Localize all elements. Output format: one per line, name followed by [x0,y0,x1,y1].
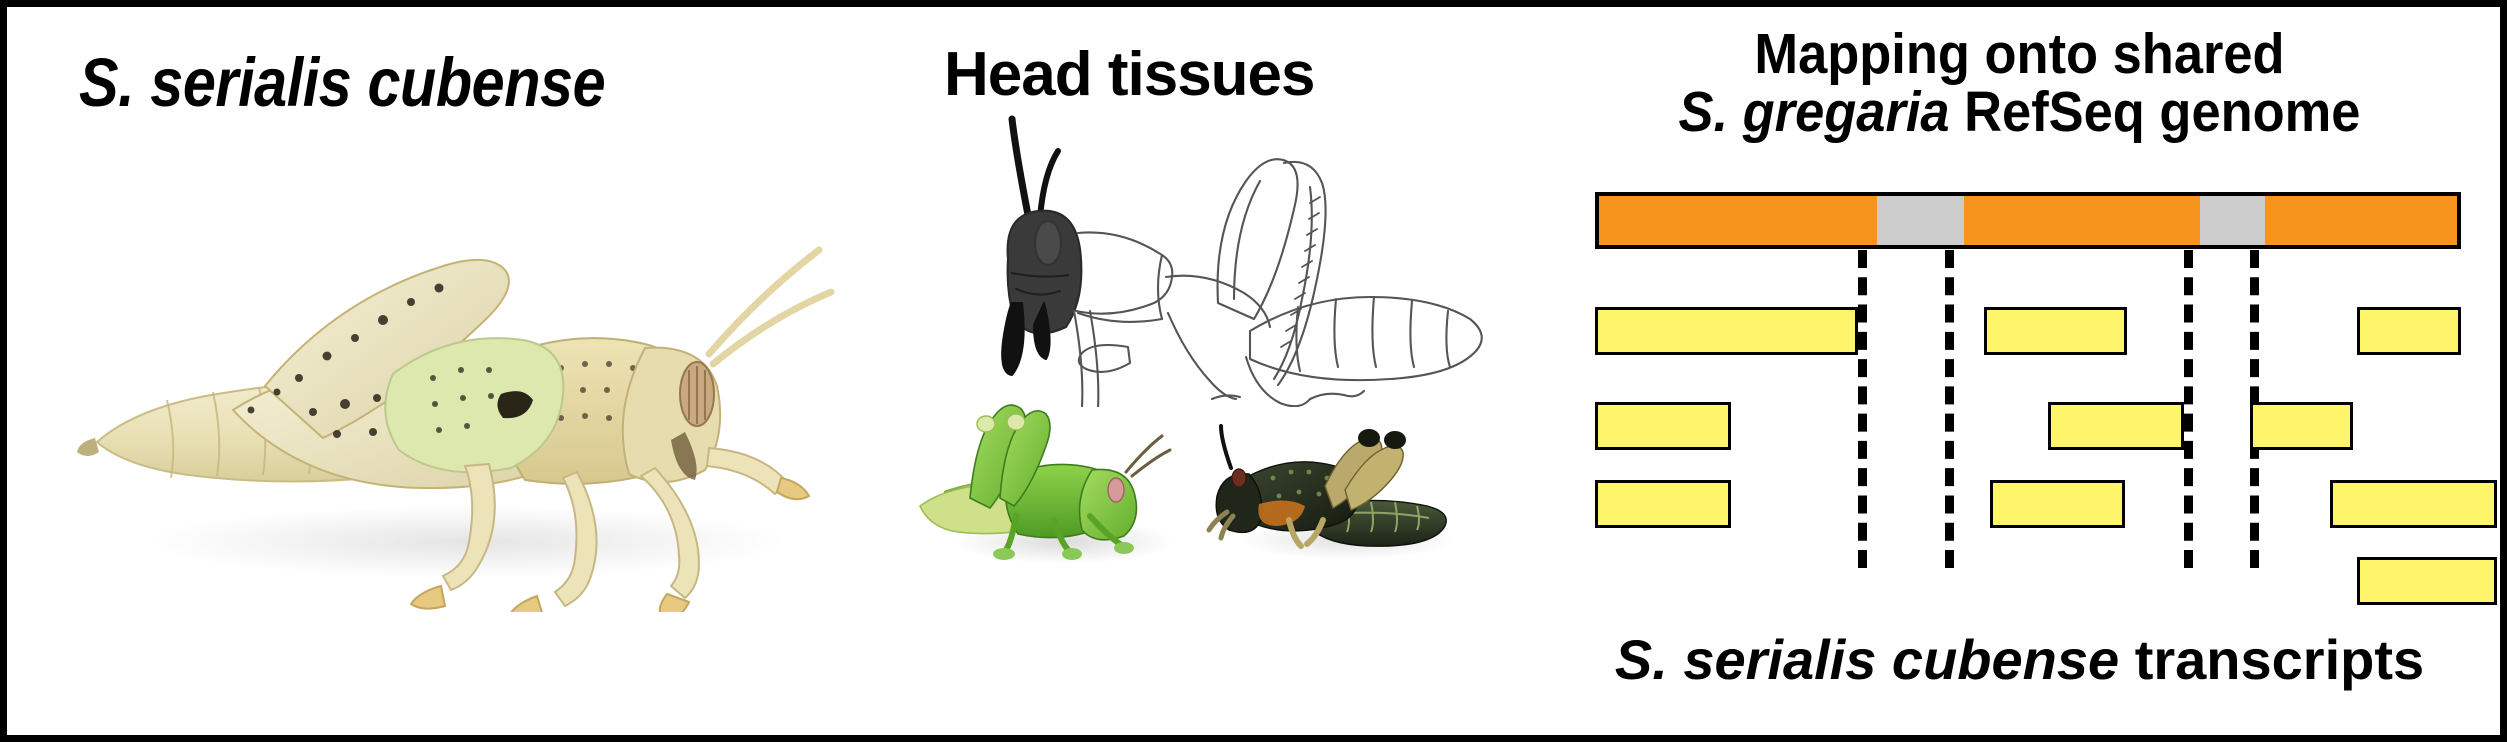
nymph-green-photo [904,402,1204,592]
transcripts-caption: S. serialis cubense transcripts [1532,627,2507,692]
transcript-block [2357,557,2497,605]
transcript-block [2357,307,2461,355]
head-tissues-heading: Head tissues [944,39,1315,110]
locust-specimen-photo [37,142,887,612]
grasshopper-line-drawing [912,107,1532,407]
panel-head-tissues: Head tissues [912,7,1532,735]
transcript-block [1984,307,2127,355]
transcripts-caption-species: S. serialis cubense [1615,628,2119,691]
transcript-block [2048,402,2184,450]
transcript-block [2330,480,2497,528]
transcript-block [1595,402,1731,450]
transcripts-caption-rest: transcripts [2135,628,2424,691]
transcript-track-area [1532,7,2507,735]
figure-root: S. serialis cubense [0,0,2507,742]
transcript-block [1595,480,1731,528]
transcript-block [1990,480,2125,528]
transcript-block [2250,402,2353,450]
species-title: S. serialis cubense [79,43,605,122]
panel-specimen-photo: S. serialis cubense [7,7,912,735]
nymph-dark-photo [1197,412,1487,592]
transcript-block [1595,307,1858,355]
panel-mapping-schematic: Mapping onto shared S. gregaria RefSeq g… [1532,7,2507,735]
